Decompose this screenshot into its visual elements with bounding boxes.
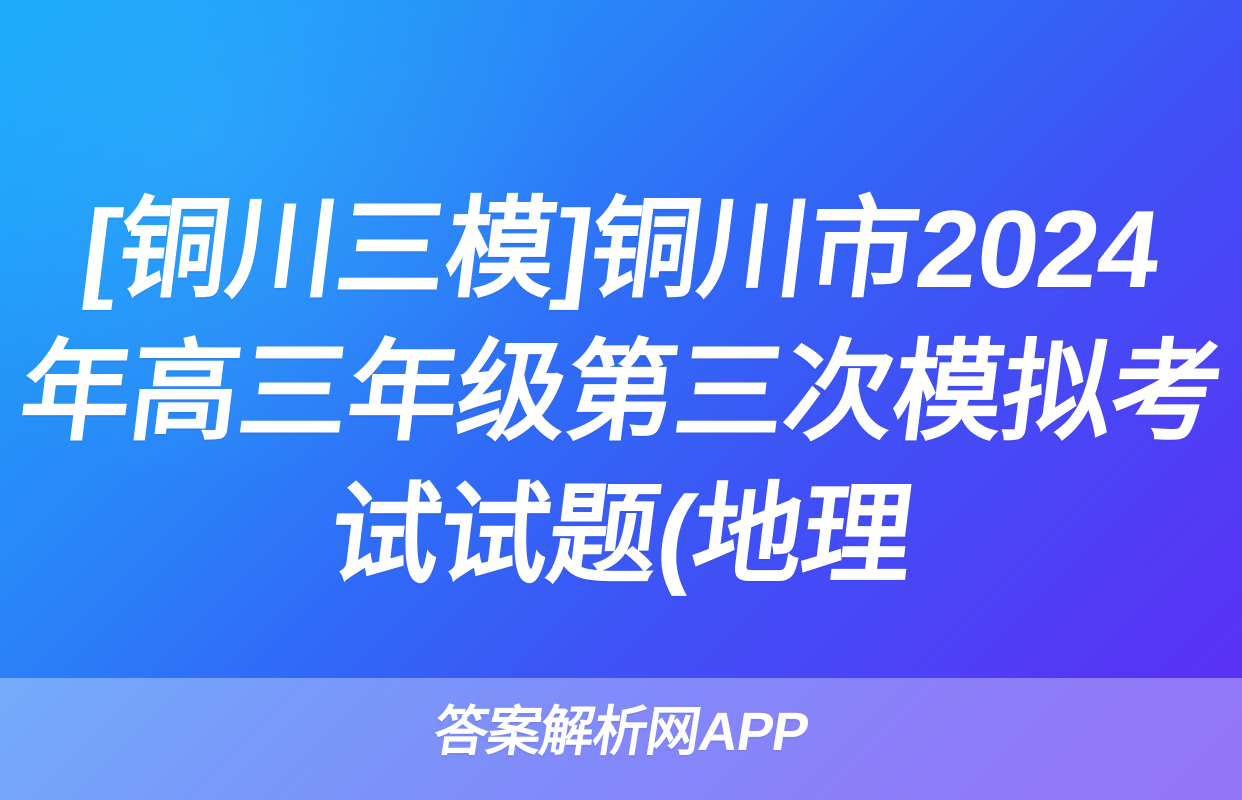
exam-title-card: [铜川三模]铜川市2024 年高三年级第三次模拟考 试试题(地理 答案解析网AP… [0,0,1242,800]
title-line-2: 年高三年级第三次模拟考 [0,321,1242,464]
page-title: [铜川三模]铜川市2024 年高三年级第三次模拟考 试试题(地理 [0,178,1242,607]
app-watermark: 答案解析网APP [0,702,1242,762]
title-line-3: 试试题(地理 [0,464,1242,607]
title-line-1: [铜川三模]铜川市2024 [0,178,1242,321]
